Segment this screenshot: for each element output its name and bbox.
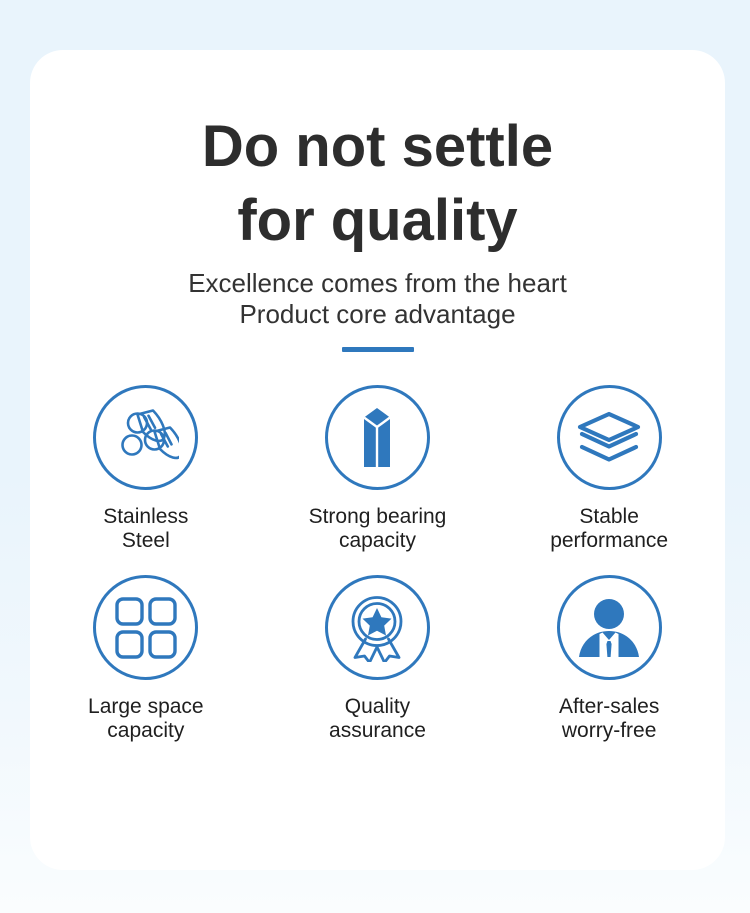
promo-page: Do not settle for quality Excellence com… xyxy=(0,0,750,913)
feature-label-line-2: Steel xyxy=(103,529,188,553)
page-title: Do not settle for quality xyxy=(30,110,725,258)
award-medal-icon xyxy=(344,594,410,662)
column-pillar-icon xyxy=(345,404,409,472)
page-subtitle-line-1: Excellence comes from the heart xyxy=(30,268,725,299)
feature-label-line-2: assurance xyxy=(329,719,426,743)
feature-grid: Stainless Steel xyxy=(30,385,725,765)
feature-icon-circle xyxy=(325,385,430,490)
stacked-layers-icon xyxy=(576,409,642,467)
feature-label-line-2: capacity xyxy=(88,719,204,743)
four-squares-grid-icon xyxy=(115,597,177,659)
feature-label-line-2: performance xyxy=(550,529,668,553)
feature-item-quality-assurance: Quality assurance xyxy=(262,575,494,743)
feature-label: Large space capacity xyxy=(88,695,204,743)
content-card: Do not settle for quality Excellence com… xyxy=(30,50,725,870)
feature-label-line-1: Stable xyxy=(550,505,668,529)
feature-item-large-space-capacity: Large space capacity xyxy=(30,575,262,743)
feature-label: Quality assurance xyxy=(329,695,426,743)
feature-item-after-sales-worry-free: After-sales worry-free xyxy=(493,575,725,743)
feature-label: Stainless Steel xyxy=(103,505,188,553)
feature-icon-circle xyxy=(557,575,662,680)
feature-icon-circle xyxy=(93,385,198,490)
feature-icon-circle xyxy=(93,575,198,680)
feature-label-line-1: Stainless xyxy=(103,505,188,529)
feature-label: Stable performance xyxy=(550,505,668,553)
feature-label: Strong bearing capacity xyxy=(309,505,447,553)
page-subtitle: Excellence comes from the heart Product … xyxy=(30,268,725,330)
stacked-pipes-icon xyxy=(113,405,179,471)
feature-label-line-2: worry-free xyxy=(559,719,659,743)
page-subtitle-line-2: Product core advantage xyxy=(30,299,725,330)
feature-item-stainless-steel: Stainless Steel xyxy=(30,385,262,553)
feature-item-strong-bearing-capacity: Strong bearing capacity xyxy=(262,385,494,553)
accent-divider xyxy=(342,347,414,352)
page-title-line-1: Do not settle xyxy=(30,110,725,184)
feature-label-line-1: After-sales xyxy=(559,695,659,719)
feature-label-line-1: Strong bearing xyxy=(309,505,447,529)
feature-label-line-2: capacity xyxy=(309,529,447,553)
feature-icon-circle xyxy=(557,385,662,490)
feature-label-line-1: Quality xyxy=(329,695,426,719)
person-suit-icon xyxy=(577,597,641,659)
feature-icon-circle xyxy=(325,575,430,680)
feature-item-stable-performance: Stable performance xyxy=(493,385,725,553)
feature-label: After-sales worry-free xyxy=(559,695,659,743)
page-title-line-2: for quality xyxy=(30,184,725,258)
feature-label-line-1: Large space xyxy=(88,695,204,719)
